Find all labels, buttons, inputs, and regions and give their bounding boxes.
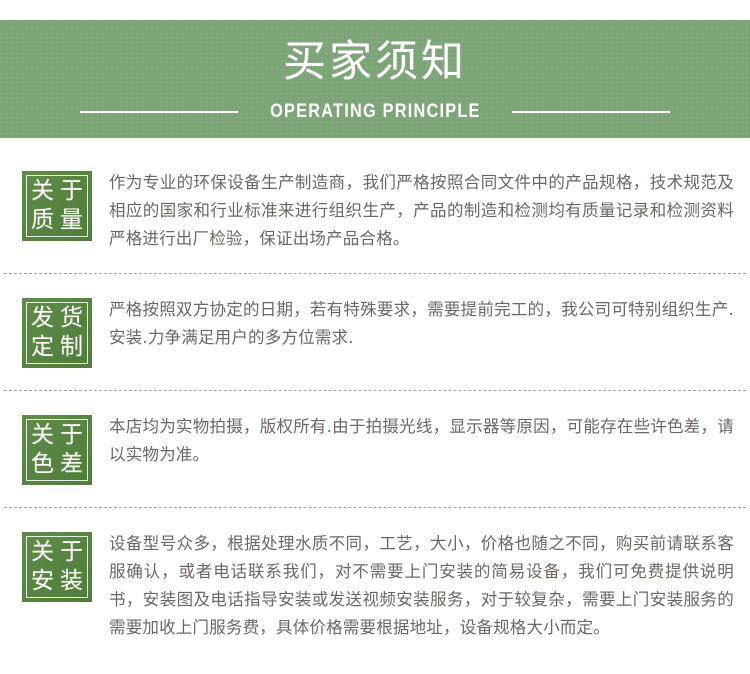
badge-char: 发 (31, 307, 54, 330)
badge-inner: 关 于 质 量 (26, 175, 88, 237)
badge-quality: 关 于 质 量 (22, 171, 92, 241)
badge-char: 安 (31, 570, 54, 593)
notice-text-installation: 设备型号众多，根据处理水质不同，工艺，大小，价格也随之不同，购买前请联系客服确认… (109, 530, 740, 642)
notice-section-installation: 关 于 安 装 设备型号众多，根据处理水质不同，工艺，大小，价格也随之不同，购买… (0, 508, 750, 662)
page-header-banner: 买家须知 OPERATING PRINCIPLE (0, 20, 750, 138)
notice-section-shipping: 发 货 定 制 严格按照双方协定的日期，若有特殊要求，需要提前完工的，我公司可特… (0, 274, 750, 390)
notice-section-quality: 关 于 质 量 作为专业的环保设备生产制造商，我们严格按照合同文件中的产品规格，… (0, 138, 750, 273)
subtitle-rule-left (80, 111, 238, 113)
notice-section-color: 关 于 色 差 本店均为实物拍摄，版权所有.由于拍摄光线，显示器等原因，可能存在… (0, 391, 750, 507)
subtitle-rule-right (512, 111, 670, 113)
notice-text-shipping: 严格按照双方协定的日期，若有特殊要求，需要提前完工的，我公司可特别组织生产.安装… (109, 296, 740, 352)
subtitle-row: OPERATING PRINCIPLE (80, 101, 670, 123)
badge-char: 差 (60, 453, 83, 476)
badge-char: 定 (31, 336, 54, 359)
page-subtitle: OPERATING PRINCIPLE (257, 101, 493, 123)
badge-char: 色 (31, 453, 54, 476)
badge-char: 质 (31, 209, 54, 232)
badge-char: 关 (31, 541, 54, 564)
notice-text-quality: 作为专业的环保设备生产制造商，我们严格按照合同文件中的产品规格，技术规范及相应的… (109, 169, 740, 253)
badge-char: 于 (60, 541, 83, 564)
badge-char: 量 (60, 209, 83, 232)
badge-inner: 关 于 色 差 (26, 419, 88, 481)
badge-char: 关 (31, 180, 54, 203)
badge-char: 制 (60, 336, 83, 359)
buyer-notice-page: 买家须知 OPERATING PRINCIPLE 关 于 质 量 作为专业的环保… (0, 0, 750, 674)
badge-color: 关 于 色 差 (22, 415, 92, 485)
badge-inner: 发 货 定 制 (26, 302, 88, 364)
badge-char: 于 (60, 424, 83, 447)
badge-char: 于 (60, 180, 83, 203)
badge-char: 关 (31, 424, 54, 447)
badge-installation: 关 于 安 装 (22, 532, 92, 602)
notice-sections: 关 于 质 量 作为专业的环保设备生产制造商，我们严格按照合同文件中的产品规格，… (0, 138, 750, 662)
badge-shipping: 发 货 定 制 (22, 298, 92, 368)
page-title: 买家须知 (283, 41, 467, 84)
notice-text-color: 本店均为实物拍摄，版权所有.由于拍摄光线，显示器等原因，可能存在些许色差，请以实… (109, 413, 740, 469)
badge-char: 装 (60, 570, 83, 593)
badge-char: 货 (60, 307, 83, 330)
badge-inner: 关 于 安 装 (26, 536, 88, 598)
